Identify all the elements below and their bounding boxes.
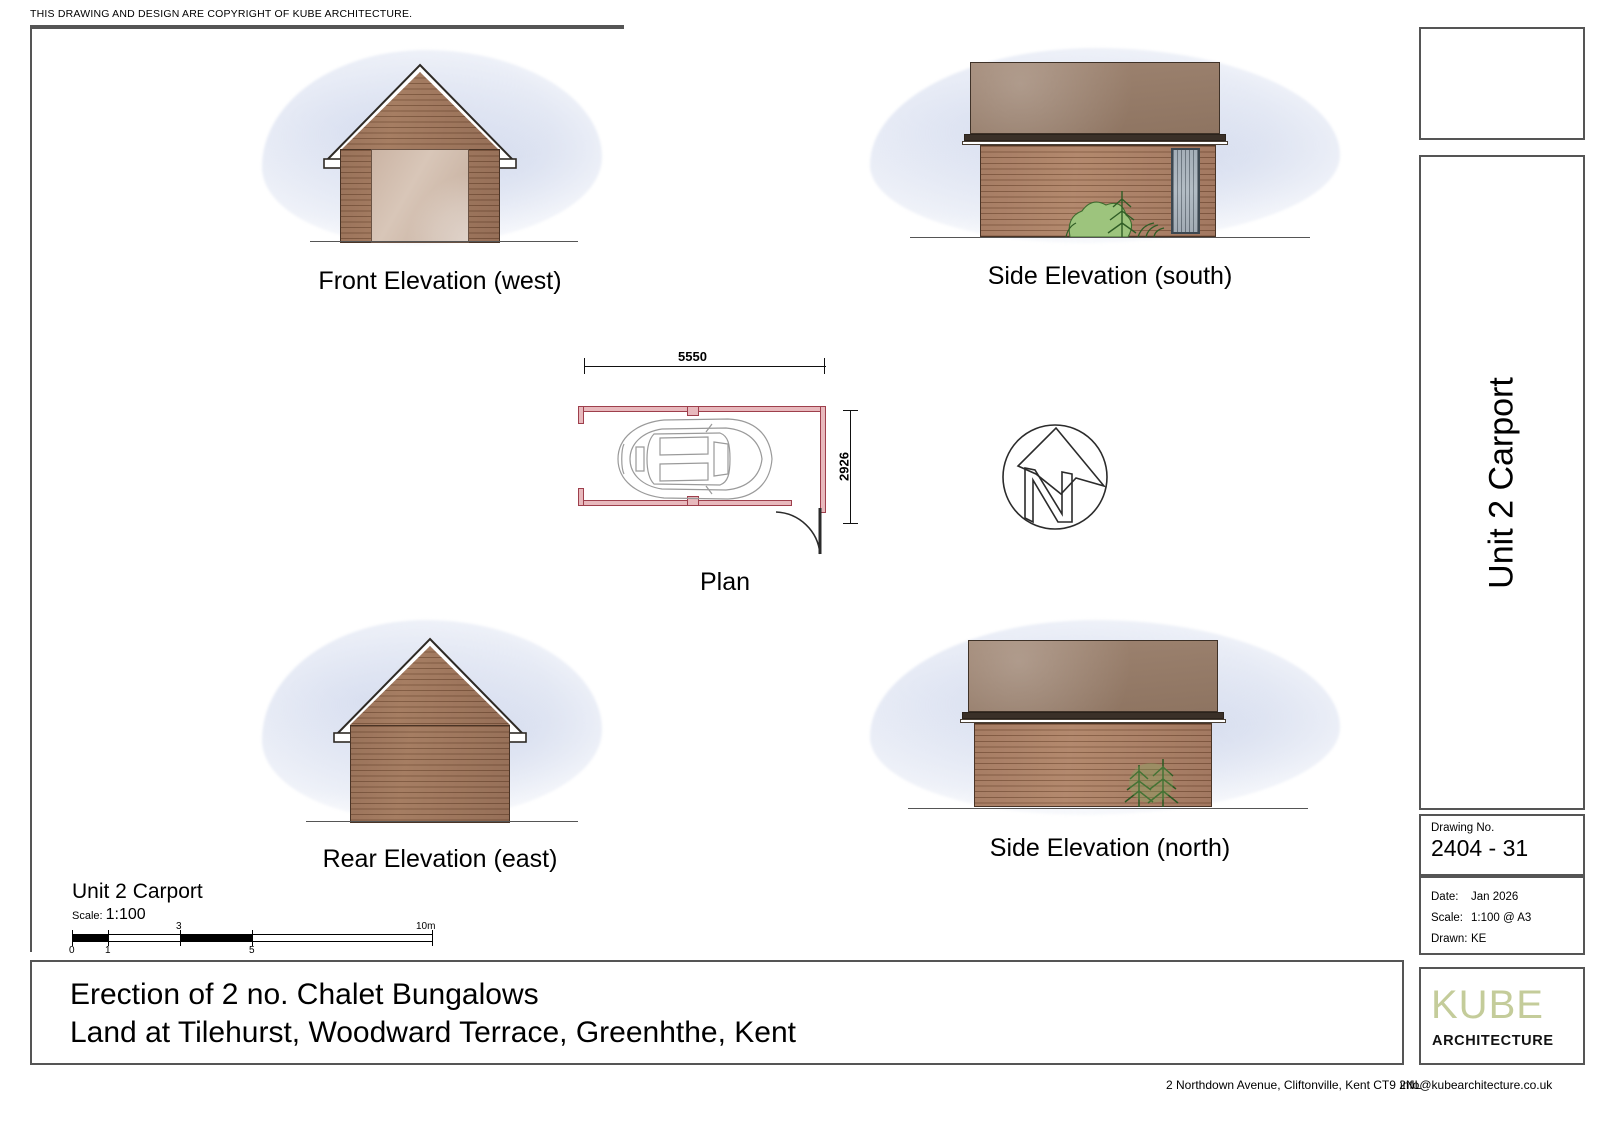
view-side-south: Side Elevation (south) (860, 40, 1360, 260)
plan-wall-top (578, 406, 826, 412)
rear-east-wall (350, 725, 510, 823)
scale-label: Scale: (1431, 908, 1471, 929)
dim-label-depth: 2926 (837, 437, 852, 497)
footer-email[interactable]: info@kubearchitecture.co.uk (1400, 1078, 1552, 1092)
meta-row-scale: Scale:1:100 @ A3 (1431, 908, 1583, 929)
shrub-foliage-icon (1060, 175, 1180, 241)
ground-line (908, 808, 1308, 809)
copyright-note: THIS DRAWING AND DESIGN ARE COPYRIGHT OF… (30, 8, 412, 20)
logo-wordmark: KUBE (1431, 983, 1544, 1028)
caption-rear-east: Rear Elevation (east) (250, 845, 630, 874)
drawing-no-value: 2404 - 31 (1431, 835, 1583, 862)
scale-num-0: 0 (69, 945, 75, 956)
dim-tick-left (584, 358, 585, 374)
plan-pier-bottom-left (578, 488, 584, 506)
date-label: Date: (1431, 887, 1471, 908)
front-west-building (340, 63, 500, 243)
project-title-box: Erection of 2 no. Chalet Bungalows Land … (30, 960, 1404, 1065)
scale-bar-title: Unit 2 Carport (72, 880, 452, 904)
date-value: Jan 2026 (1471, 891, 1518, 903)
footer-address: 2 Northdown Avenue, Cliftonville, Kent C… (1166, 1078, 1421, 1092)
scale-num-10: 10m (416, 921, 435, 932)
project-title-line-2: Land at Tilehurst, Woodward Terrace, Gre… (70, 1014, 1402, 1052)
scale-bar-scale: Scale: 1:100 (72, 906, 452, 924)
scale-num-5: 5 (249, 945, 255, 956)
scale-seg-5-10 (252, 934, 432, 942)
view-rear-east: Rear Elevation (east) (250, 615, 630, 830)
caption-plan: Plan (560, 568, 890, 597)
drawing-no-label: Drawing No. (1431, 822, 1583, 834)
plan-wall-right (820, 406, 826, 513)
caption-side-south: Side Elevation (south) (860, 262, 1360, 291)
roof-fascia (964, 134, 1226, 141)
scale-tick-0 (72, 930, 73, 946)
company-logo: KUBE ARCHITECTURE (1419, 967, 1585, 1065)
side-south-building (860, 40, 1360, 260)
title-block-drawing-name: Unit 2 Carport (1419, 155, 1585, 810)
scale-tick-3 (180, 930, 181, 946)
scale-num-3: 3 (176, 921, 182, 932)
view-plan: 5550 2926 (560, 340, 890, 605)
title-block-meta: Date:Jan 2026 Scale:1:100 @ A3 Drawn:KE (1419, 876, 1585, 955)
caption-front-west: Front Elevation (west) (250, 267, 630, 296)
meta-row-date: Date:Jan 2026 (1431, 887, 1583, 908)
door-swing-icon (773, 506, 843, 562)
scale-value: 1:100 (106, 906, 146, 923)
scale-label: Scale: (72, 910, 103, 922)
view-front-west: Front Elevation (west) (250, 45, 630, 260)
roof-fascia (962, 712, 1224, 719)
plan-pier-top-left (578, 406, 584, 424)
scale-value: 1:100 @ A3 (1471, 912, 1531, 924)
north-arrow (1000, 422, 1110, 532)
ground-line (306, 821, 578, 822)
dim-tick-right (824, 358, 825, 374)
scale-num-1: 1 (105, 945, 111, 956)
scale-bar: Unit 2 Carport Scale: 1:100 0 1 3 5 10m (72, 880, 452, 950)
scale-tick-10 (432, 930, 433, 946)
scale-seg-1-3 (108, 934, 180, 942)
title-block-blank-panel (1419, 27, 1585, 140)
scale-bar-graphic: 0 1 3 5 10m (72, 928, 452, 950)
shrub-foliage-icon (1115, 757, 1195, 809)
dim-label-width: 5550 (678, 349, 707, 364)
compass-icon (1000, 422, 1110, 532)
caption-side-north: Side Elevation (north) (860, 834, 1360, 863)
logo-subtitle: ARCHITECTURE (1432, 1033, 1554, 1049)
roof-slab (968, 640, 1218, 712)
scale-seg-3-5 (180, 934, 252, 942)
rear-east-building (350, 637, 510, 823)
scale-tick-5 (252, 930, 253, 946)
dim-tick-top (843, 410, 858, 411)
view-side-north: Side Elevation (north) (860, 612, 1360, 832)
carport-opening (371, 149, 469, 243)
dim-tick-bottom (843, 523, 858, 524)
meta-row-drawn: Drawn:KE (1431, 929, 1583, 950)
scale-seg-0-1 (72, 934, 108, 942)
dim-line-width (584, 366, 826, 367)
drawing-sheet: THIS DRAWING AND DESIGN ARE COPYRIGHT OF… (0, 0, 1600, 1131)
ground-line (310, 241, 578, 242)
ground-line (910, 237, 1310, 238)
car-plan-icon (602, 414, 782, 504)
side-north-building (860, 612, 1360, 832)
title-block-drawing-number: Drawing No. 2404 - 31 (1419, 814, 1585, 876)
drawn-value: KE (1471, 933, 1486, 945)
project-title-line-1: Erection of 2 no. Chalet Bungalows (70, 976, 1402, 1014)
opening-shading (372, 150, 468, 242)
drawn-label: Drawn: (1431, 929, 1471, 950)
drawing-name-text: Unit 2 Carport (1483, 377, 1522, 589)
scale-tick-1 (108, 930, 109, 946)
roof-slab (970, 62, 1220, 134)
